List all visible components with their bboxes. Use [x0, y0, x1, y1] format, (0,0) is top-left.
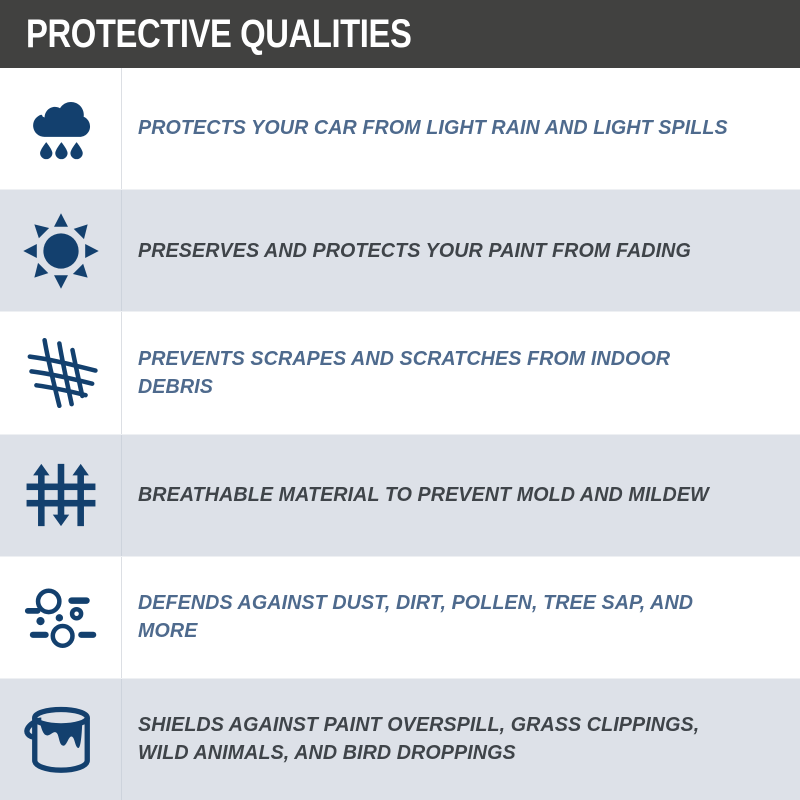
list-item: PREVENTS SCRAPES AND SCRATCHES FROM INDO…: [0, 311, 800, 433]
breathable-arrows-icon: [20, 454, 102, 536]
list-item: DEFENDS AGAINST DUST, DIRT, POLLEN, TREE…: [0, 556, 800, 678]
header-bar: PROTECTIVE QUALITIES: [0, 0, 800, 68]
icon-cell: [0, 679, 122, 800]
list-item: PRESERVES AND PROTECTS YOUR PAINT FROM F…: [0, 189, 800, 311]
page-title: PROTECTIVE QUALITIES: [26, 14, 411, 54]
text-cell: PREVENTS SCRAPES AND SCRATCHES FROM INDO…: [122, 312, 800, 433]
icon-cell: [0, 435, 122, 556]
list-item: SHIELDS AGAINST PAINT OVERSPILL, GRASS C…: [0, 678, 800, 800]
text-cell: PROTECTS YOUR CAR FROM LIGHT RAIN AND LI…: [122, 68, 800, 189]
icon-cell: [0, 68, 122, 189]
rain-cloud-icon: [20, 88, 102, 170]
icon-cell: [0, 557, 122, 678]
text-cell: DEFENDS AGAINST DUST, DIRT, POLLEN, TREE…: [122, 557, 800, 678]
sun-icon: [20, 210, 102, 292]
protective-qualities-infographic: PROTECTIVE QUALITIES PROTEC: [0, 0, 800, 800]
dust-particles-icon: [20, 576, 102, 658]
feature-list: PROTECTS YOUR CAR FROM LIGHT RAIN AND LI…: [0, 68, 800, 800]
icon-cell: [0, 190, 122, 311]
text-cell: BREATHABLE MATERIAL TO PREVENT MOLD AND …: [122, 435, 800, 556]
list-item-label: SHIELDS AGAINST PAINT OVERSPILL, GRASS C…: [138, 711, 749, 768]
list-item-label: DEFENDS AGAINST DUST, DIRT, POLLEN, TREE…: [138, 589, 749, 646]
list-item-label: PROTECTS YOUR CAR FROM LIGHT RAIN AND LI…: [138, 114, 728, 142]
icon-cell: [0, 312, 122, 433]
text-cell: PRESERVES AND PROTECTS YOUR PAINT FROM F…: [122, 190, 800, 311]
list-item-label: BREATHABLE MATERIAL TO PREVENT MOLD AND …: [138, 481, 709, 509]
text-cell: SHIELDS AGAINST PAINT OVERSPILL, GRASS C…: [122, 679, 800, 800]
list-item: BREATHABLE MATERIAL TO PREVENT MOLD AND …: [0, 434, 800, 556]
list-item-label: PRESERVES AND PROTECTS YOUR PAINT FROM F…: [138, 237, 691, 265]
mesh-net-icon: [20, 332, 102, 414]
paint-can-icon: [20, 698, 102, 780]
list-item: PROTECTS YOUR CAR FROM LIGHT RAIN AND LI…: [0, 68, 800, 189]
list-item-label: PREVENTS SCRAPES AND SCRATCHES FROM INDO…: [138, 345, 749, 402]
